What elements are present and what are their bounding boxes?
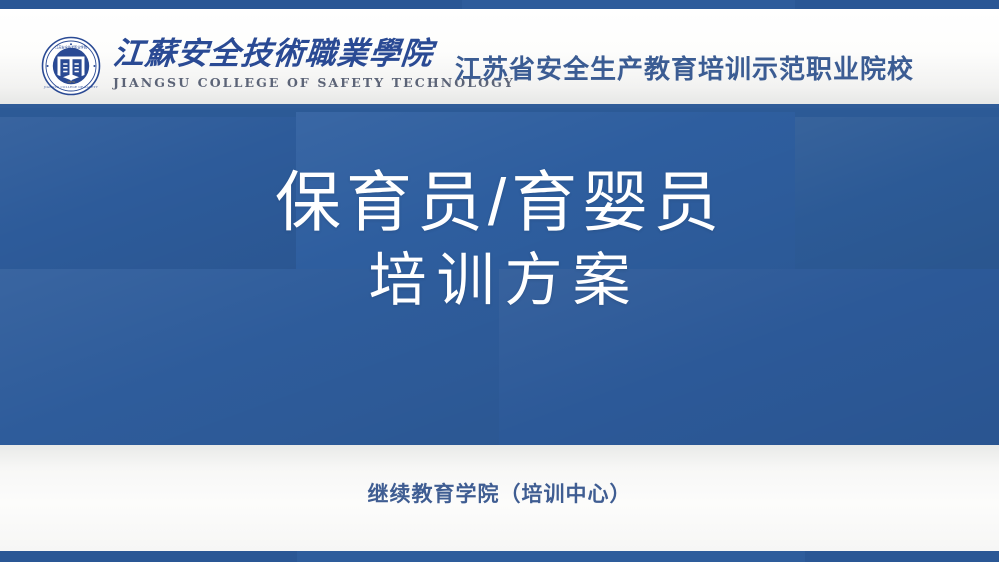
top-accent-bar bbox=[0, 0, 999, 9]
slide-footer: 继续教育学院（培训中心） bbox=[0, 445, 999, 551]
bottom-bar-segment-center bbox=[297, 551, 805, 562]
college-logo-icon: 江苏安全技术职业学院 JIANGSU COLLEGE OF SAFETY 197… bbox=[41, 36, 101, 96]
mosaic-block-row1-right bbox=[795, 117, 999, 269]
bottom-bar-segment-left bbox=[0, 551, 297, 562]
svg-text:JIANGSU COLLEGE OF SAFETY: JIANGSU COLLEGE OF SAFETY bbox=[43, 85, 98, 89]
college-name-english: JIANGSU COLLEGE OF SAFETY TECHNOLOGY bbox=[113, 75, 433, 90]
hero-background bbox=[0, 108, 999, 445]
mosaic-block-row1-center bbox=[296, 112, 795, 269]
bottom-bar-segment-right bbox=[805, 551, 999, 562]
svg-text:1979: 1979 bbox=[67, 80, 75, 84]
mosaic-block-row2-left bbox=[0, 269, 499, 445]
svg-text:江苏安全技术职业学院: 江苏安全技术职业学院 bbox=[55, 44, 88, 49]
mosaic-block-row1-left bbox=[0, 117, 296, 269]
college-name-chinese: 江蘇安全技術職業學院 bbox=[111, 35, 434, 73]
bottom-accent-bar bbox=[0, 551, 999, 562]
mosaic-block-row2-right bbox=[499, 269, 999, 445]
footer-department-label: 继续教育学院（培训中心） bbox=[0, 478, 999, 508]
header-slogan: 江苏省安全生产教育培训示范职业院校 bbox=[455, 49, 914, 86]
top-bar-segment-right bbox=[795, 0, 999, 9]
slide-header: 江苏安全技术职业学院 JIANGSU COLLEGE OF SAFETY 197… bbox=[0, 9, 999, 108]
top-bar-segment-center bbox=[462, 0, 795, 9]
college-name-block: 江蘇安全技術職業學院 JIANGSU COLLEGE OF SAFETY TEC… bbox=[113, 35, 433, 90]
top-bar-segment-left bbox=[0, 0, 462, 9]
presentation-cover-slide: 江苏安全技术职业学院 JIANGSU COLLEGE OF SAFETY 197… bbox=[0, 0, 999, 562]
